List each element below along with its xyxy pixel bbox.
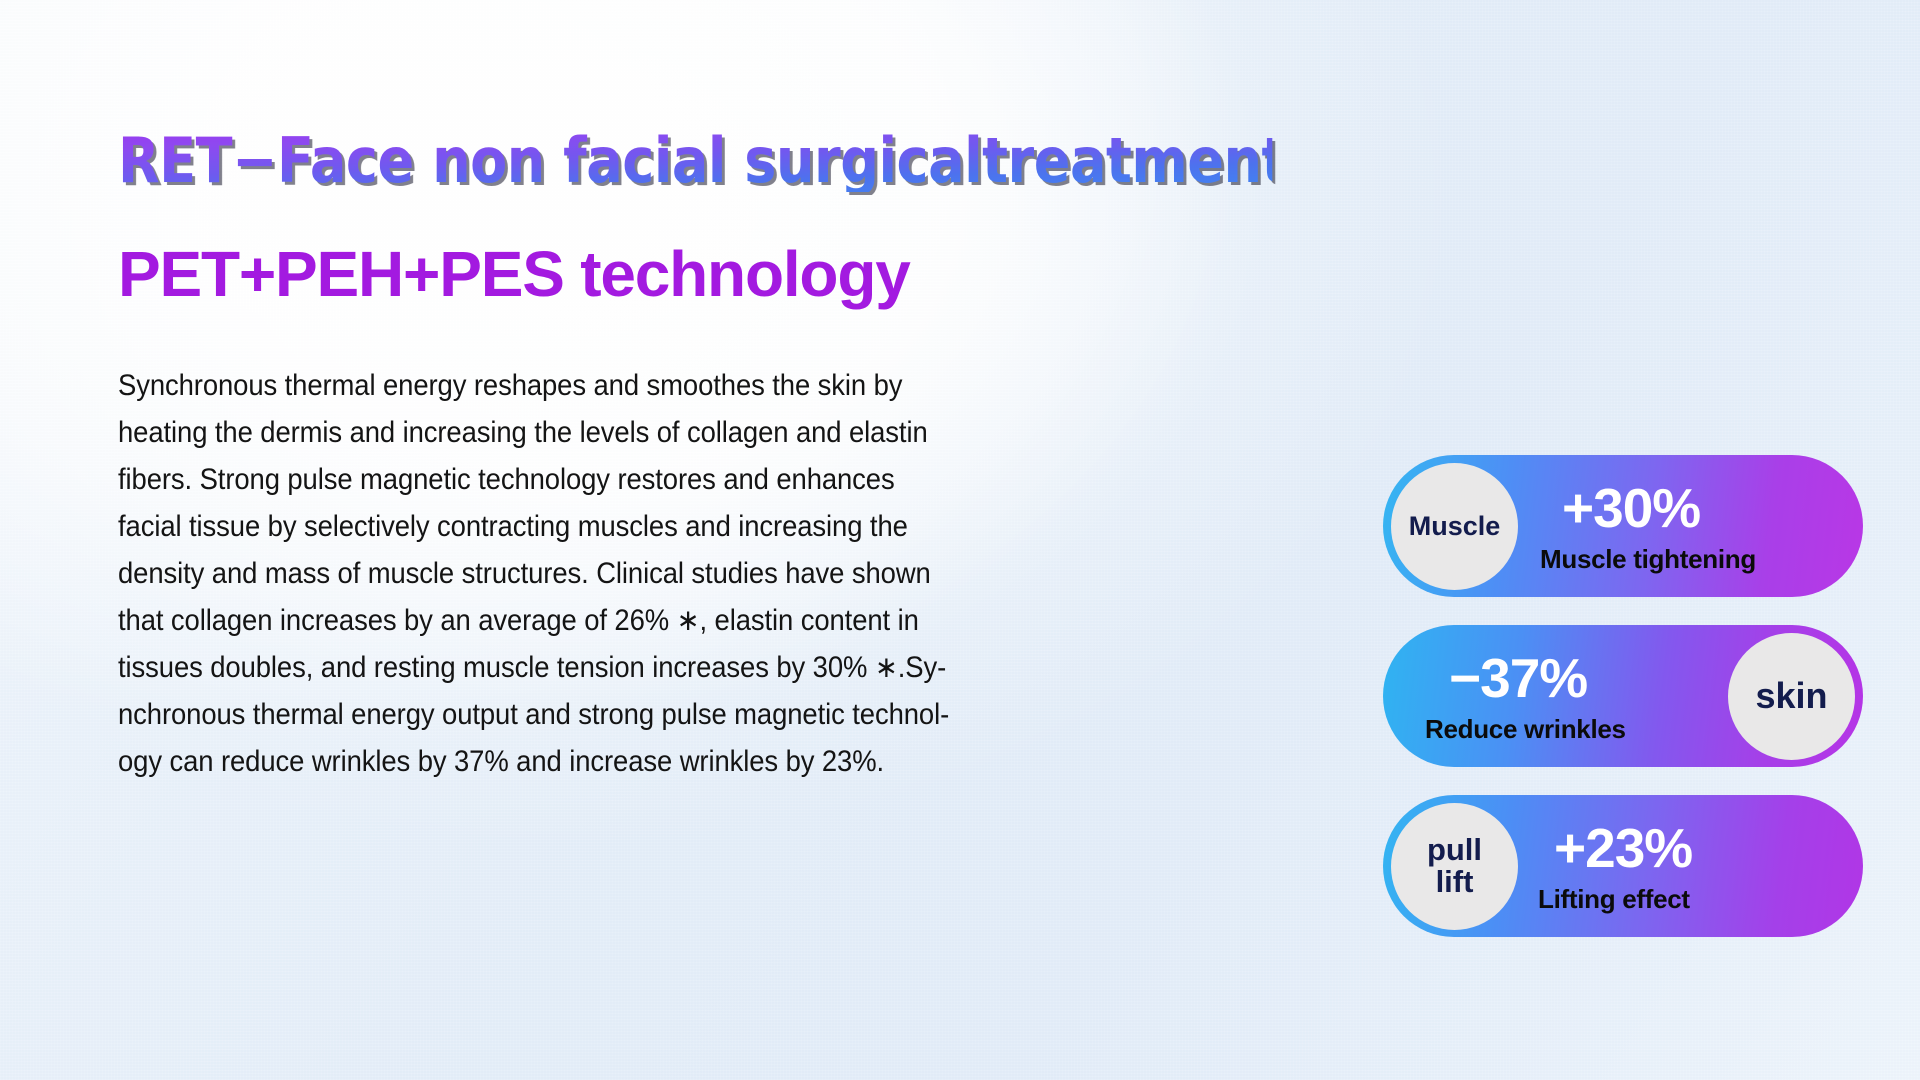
body-line: Synchronous thermal energy reshapes and …	[118, 362, 1220, 409]
body-line: ogy can reduce wrinkles by 37% and incre…	[118, 738, 1220, 785]
stat-badge-muscle: Muscle +30% Muscle tightening	[1383, 455, 1863, 597]
page-subtitle: PET+PEH+PES technology	[118, 242, 1308, 306]
badge-caption: Reduce wrinkles	[1425, 716, 1626, 742]
badge-caption: Muscle tightening	[1540, 546, 1756, 572]
badge-circle-label-skin: skin	[1728, 633, 1855, 760]
body-paragraph: Synchronous thermal energy reshapes and …	[118, 362, 1303, 785]
badge-text-block: +30% Muscle tightening	[1540, 481, 1756, 572]
badge-circle-line: lift	[1436, 866, 1474, 898]
badge-circle-line: pull	[1427, 834, 1482, 866]
body-line: nchronous thermal energy output and stro…	[118, 691, 1220, 738]
body-line: fibers. Strong pulse magnetic technology…	[118, 456, 1220, 503]
body-line: tissues doubles, and resting muscle tens…	[118, 644, 1220, 691]
body-line: heating the dermis and increasing the le…	[118, 409, 1220, 456]
stat-badge-skin: −37% Reduce wrinkles skin	[1383, 625, 1863, 767]
page-title: RET−Face non facial surgicaltreatment	[118, 130, 1272, 192]
badge-text-block: −37% Reduce wrinkles	[1425, 651, 1626, 742]
badge-circle-label-pull-lift: pull lift	[1391, 803, 1518, 930]
slide-canvas: RET−Face non facial surgicaltreatment PE…	[0, 0, 1920, 1080]
badge-circle-line: Muscle	[1409, 512, 1501, 540]
badge-value: −37%	[1449, 651, 1587, 706]
badge-circle-line: skin	[1755, 677, 1827, 714]
content-left-column: RET−Face non facial surgicaltreatment PE…	[118, 130, 1308, 785]
stats-badge-group: Muscle +30% Muscle tightening −37% Reduc…	[1383, 455, 1863, 965]
badge-value: +23%	[1554, 821, 1692, 876]
badge-circle-label-muscle: Muscle	[1391, 463, 1518, 590]
body-line: density and mass of muscle structures. C…	[118, 550, 1220, 597]
badge-text-block: +23% Lifting effect	[1538, 821, 1692, 912]
badge-value: +30%	[1562, 481, 1700, 536]
body-line: that collagen increases by an average of…	[118, 597, 1220, 644]
body-line: facial tissue by selectively contracting…	[118, 503, 1220, 550]
badge-caption: Lifting effect	[1538, 886, 1690, 912]
stat-badge-pull-lift: pull lift +23% Lifting effect	[1383, 795, 1863, 937]
